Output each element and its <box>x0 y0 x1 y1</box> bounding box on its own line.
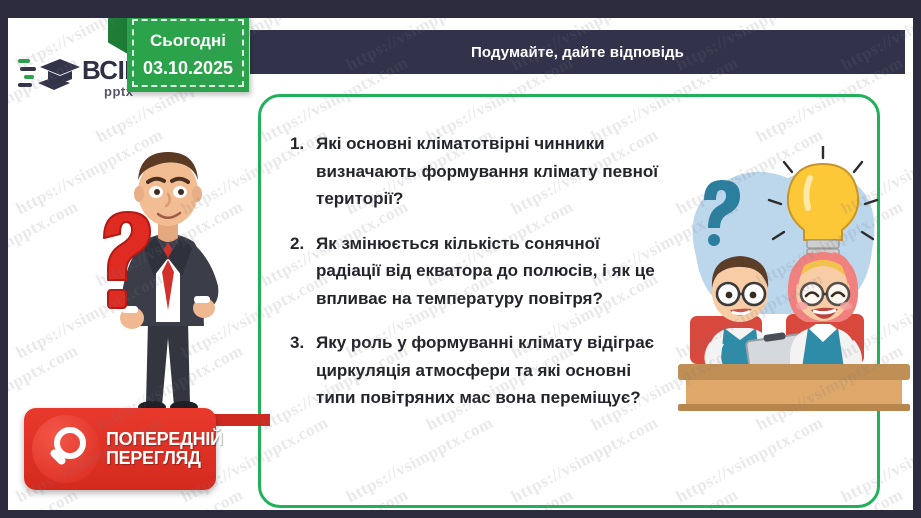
graduation-cap-icon <box>18 53 80 101</box>
page-title: Подумайте, дайте відповідь <box>471 44 684 61</box>
list-item-text: Яку роль у формуванні клімату відіграє ц… <box>316 329 665 412</box>
preview-button-line1: ПОПЕРЕДНІЙ <box>106 430 223 449</box>
date-badge: Сьогодні 03.10.2025 <box>127 18 249 92</box>
questions-list: 1. Які основні кліматотвірні чинники виз… <box>290 130 665 429</box>
date-badge-label: Сьогодні <box>127 31 249 51</box>
businessman-with-question-mark-illustration <box>70 126 270 426</box>
students-with-lightbulb-illustration <box>668 146 913 411</box>
magnifier-icon <box>32 415 100 483</box>
list-item-number: 2. <box>290 230 316 313</box>
slide-canvas: Подумайте, дайте відповідь 1. Які основн… <box>8 18 913 510</box>
date-badge-value: 03.10.2025 <box>127 58 249 79</box>
list-item-text: Які основні кліматотвірні чинники визнач… <box>316 130 665 213</box>
list-item: 3. Яку роль у формуванні клімату відігра… <box>290 329 665 412</box>
preview-button[interactable]: ПОПЕРЕДНІЙ ПЕРЕГЛЯД <box>24 408 216 490</box>
list-item-text: Як змінюється кількість сонячної радіаці… <box>316 230 665 313</box>
list-item: 1. Які основні кліматотвірні чинники виз… <box>290 130 665 213</box>
list-item-number: 1. <box>290 130 316 213</box>
list-item: 2. Як змінюється кількість сонячної раді… <box>290 230 665 313</box>
header-bar: Подумайте, дайте відповідь <box>250 30 905 74</box>
list-item-number: 3. <box>290 329 316 412</box>
slide-frame: Подумайте, дайте відповідь 1. Які основн… <box>0 0 921 518</box>
preview-button-line2: ПЕРЕГЛЯД <box>106 449 223 468</box>
